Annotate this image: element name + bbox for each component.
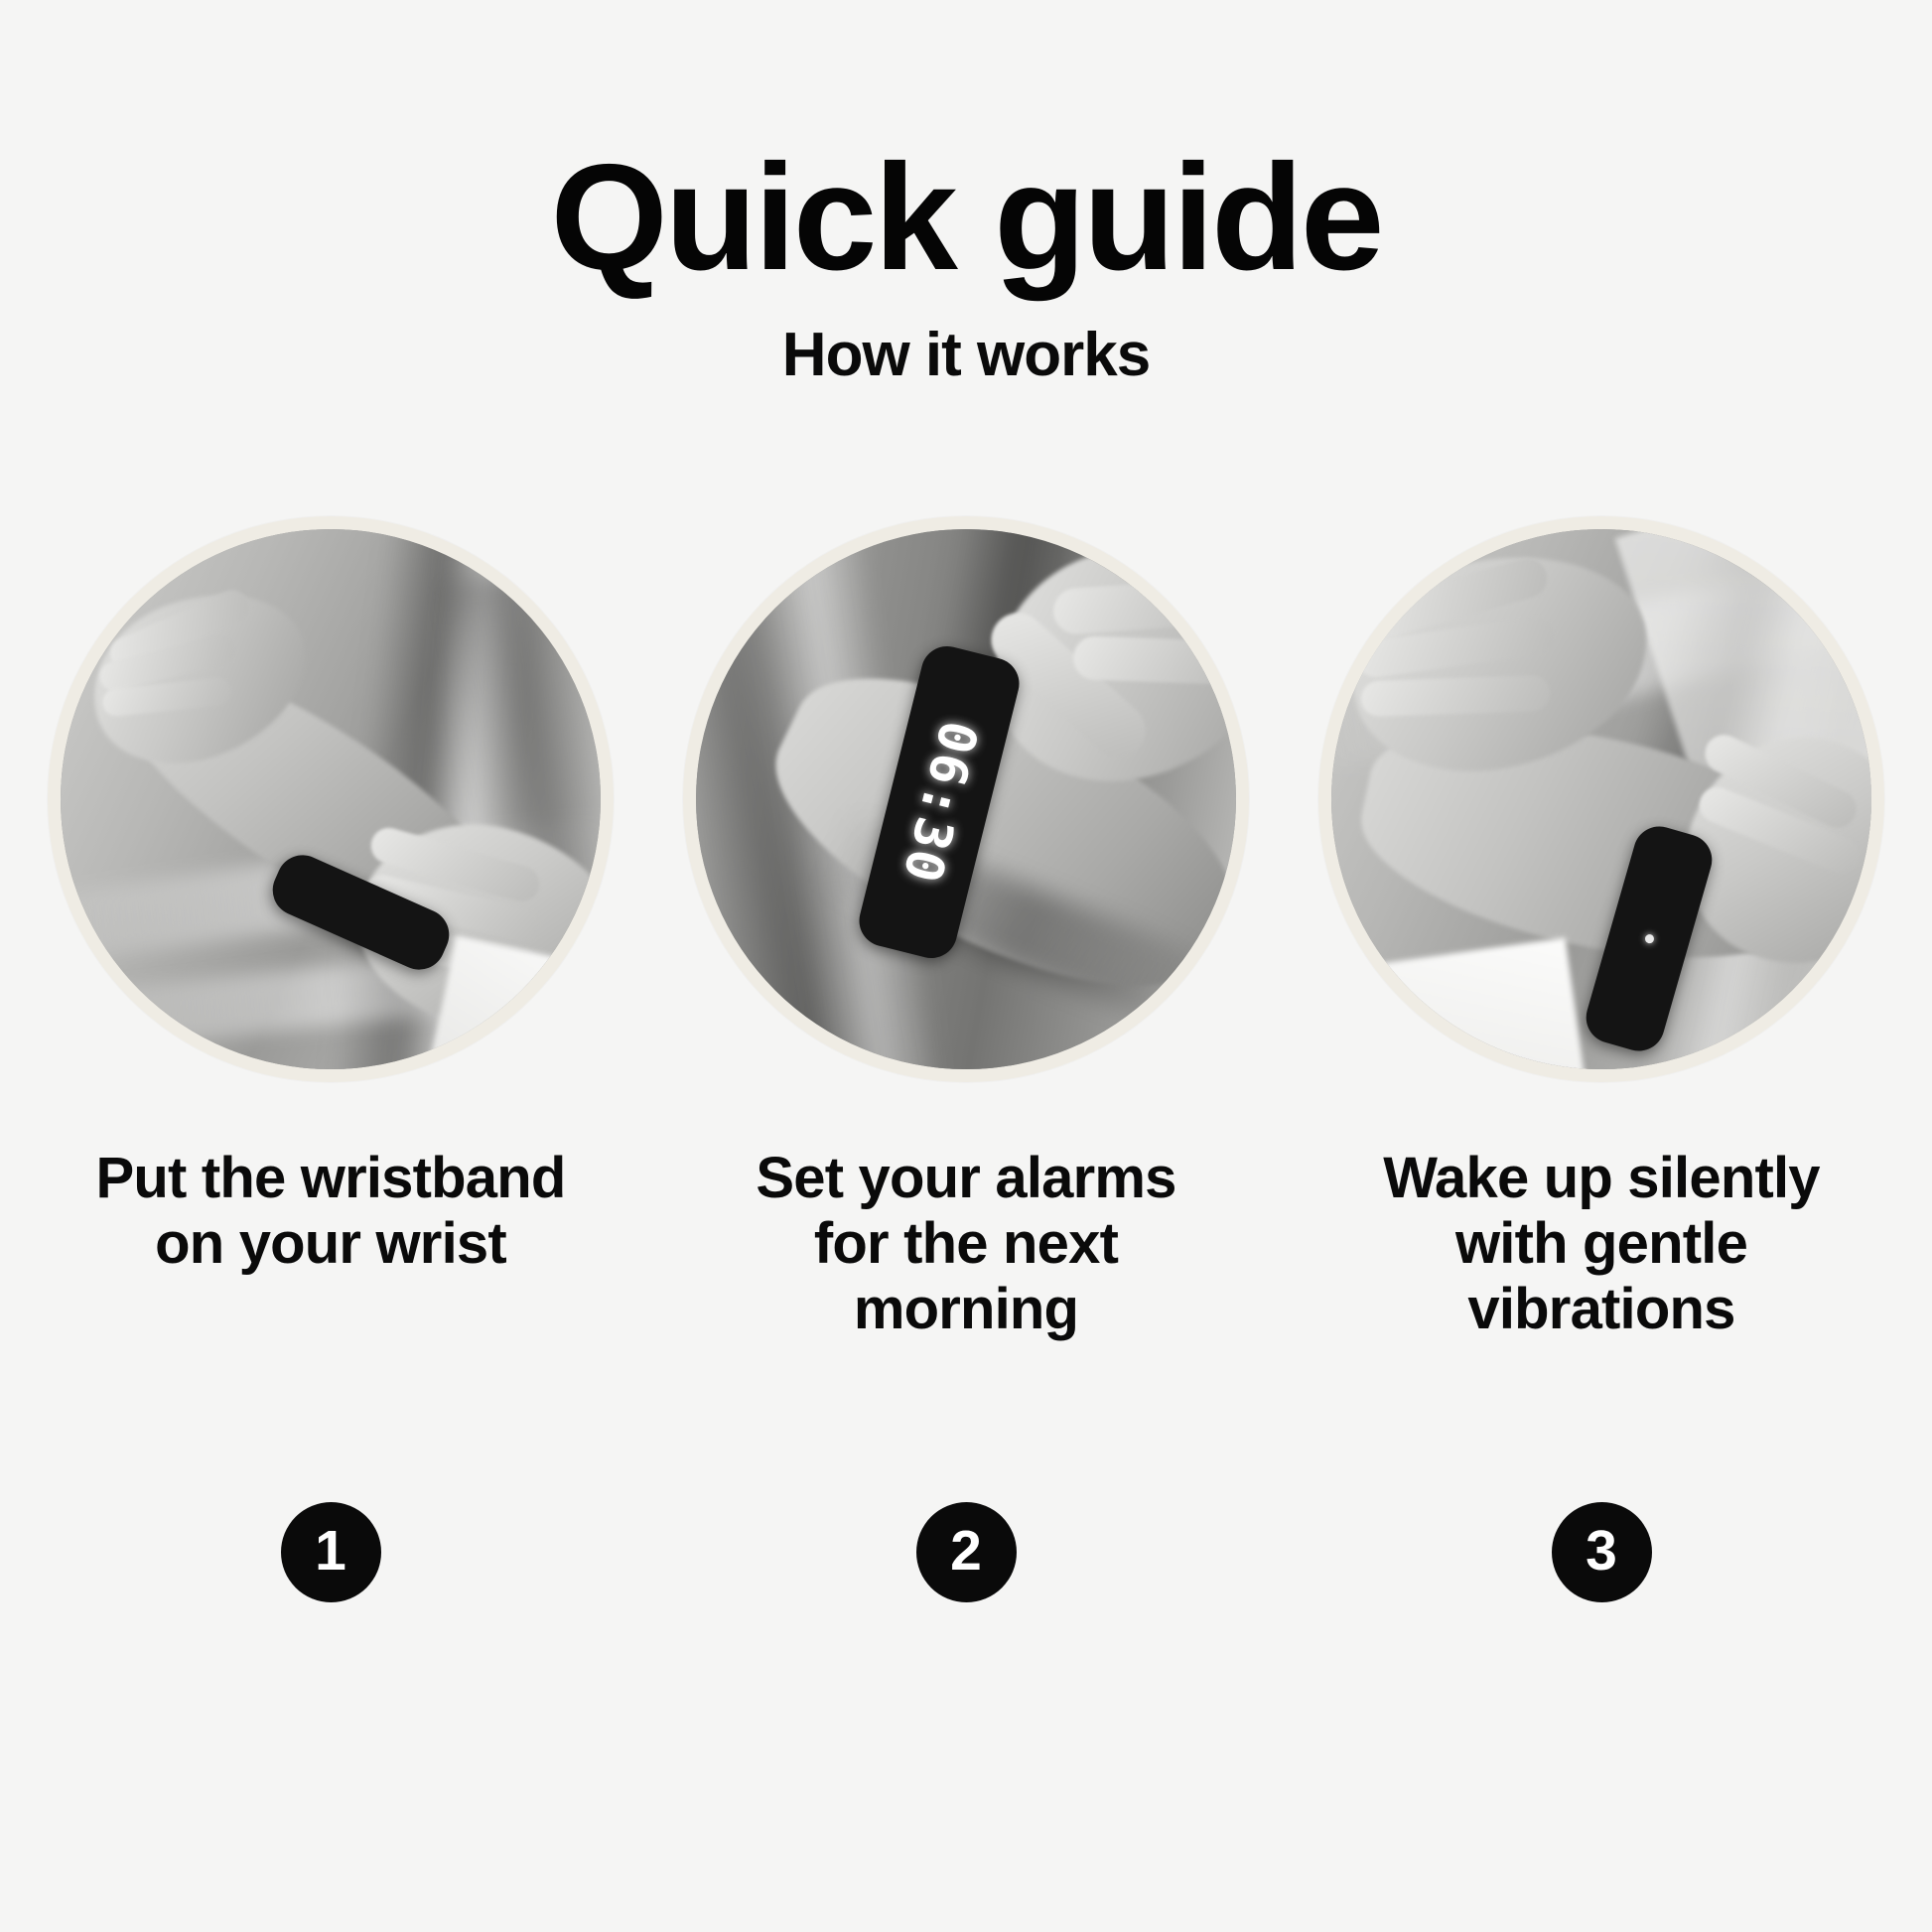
step-3-photo (1331, 529, 1871, 1069)
step-1-photo-ring (48, 516, 614, 1082)
step-1-photo (61, 529, 601, 1069)
step-1-caption: Put the wristband on your wrist (38, 1146, 623, 1277)
step-badge-2: 2 (916, 1502, 1017, 1602)
step-badge-1: 1 (281, 1502, 381, 1602)
quick-guide-page: Quick guide How it works (0, 0, 1932, 1932)
alarm-time-display: 06:30 (891, 715, 989, 890)
page-subtitle: How it works (0, 320, 1932, 390)
badge-slot-2: 2 (673, 1502, 1259, 1602)
step-3-caption: Wake up silently with gentle vibrations (1309, 1146, 1894, 1342)
step-badge-3: 3 (1552, 1502, 1652, 1602)
vibration-indicator-dot (1644, 933, 1655, 944)
step-2: 06:30 Set your alarms for the next morni… (673, 516, 1259, 1342)
badge-slot-3: 3 (1309, 1502, 1894, 1602)
page-title: Quick guide (0, 139, 1932, 298)
header: Quick guide How it works (0, 139, 1932, 390)
badge-slot-1: 1 (38, 1502, 623, 1602)
step-1: Put the wristband on your wrist (38, 516, 623, 1277)
step-2-caption: Set your alarms for the next morning (673, 1146, 1259, 1342)
steps-row: Put the wristband on your wrist (0, 516, 1932, 1342)
step-number-badges: 1 2 3 (0, 1502, 1932, 1602)
step-3: Wake up silently with gentle vibrations (1309, 516, 1894, 1342)
step-2-photo: 06:30 (696, 529, 1236, 1069)
step-2-photo-ring: 06:30 (683, 516, 1249, 1082)
step-3-photo-ring (1318, 516, 1884, 1082)
